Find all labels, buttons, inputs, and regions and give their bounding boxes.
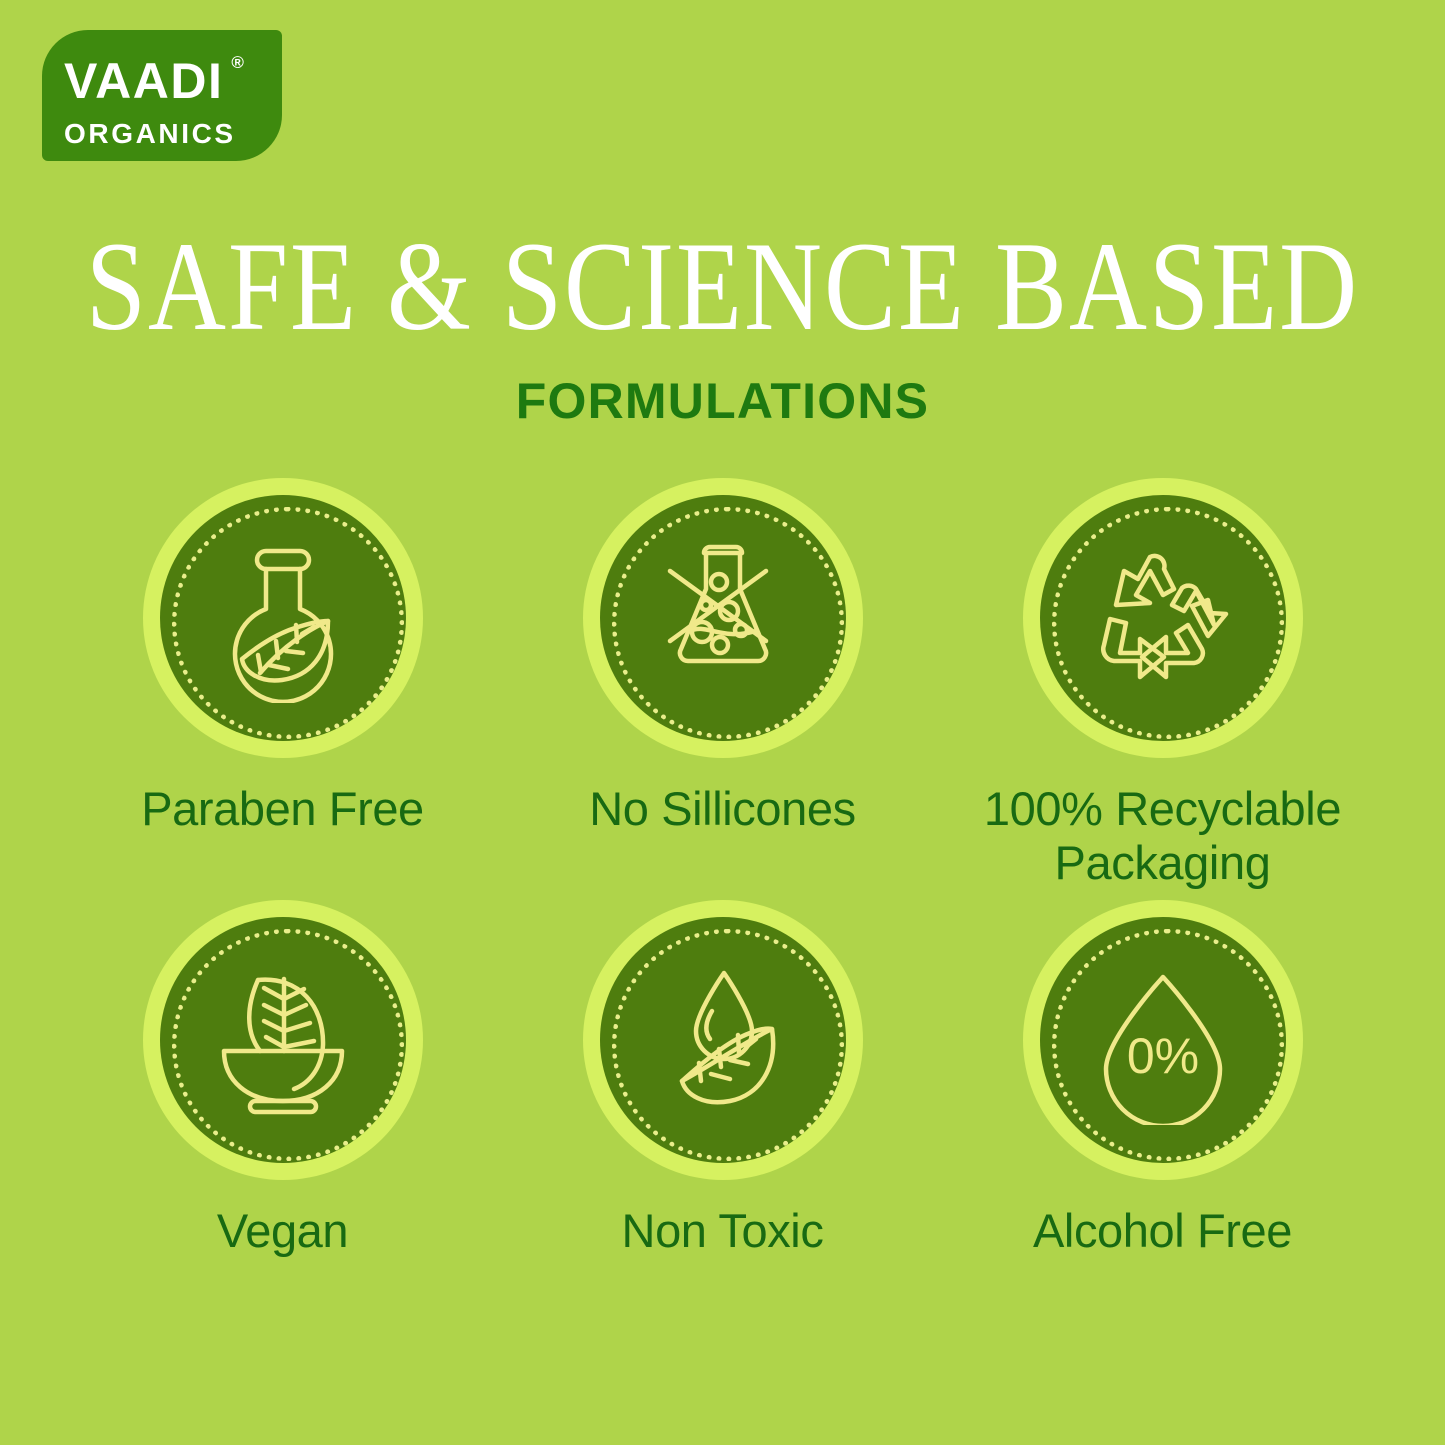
feature-item-no-sillicones: No Sillicones [503,478,943,836]
feature-grid: Paraben Free [0,478,1445,1258]
feature-label: Non Toxic [622,1204,824,1258]
feature-item-non-toxic: Non Toxic [503,900,943,1258]
badge-non-toxic [583,900,863,1180]
badge-inner [1040,495,1286,741]
droplet-zero-percent-icon: 0% [1078,955,1248,1125]
page-subtitle: FORMULATIONS [0,376,1445,426]
crossed-out-erlenmeyer-flask-icon [638,533,808,703]
feature-item-vegan: Vegan [63,900,503,1258]
droplet-on-leaf-icon [638,955,808,1125]
feature-row-1: Paraben Free [0,478,1445,890]
page-title: SAFE & SCIENCE BASED [0,224,1445,351]
brand-logo: VAADI ® ORGANICS [42,30,282,161]
badge-alcohol-free: 0% [1023,900,1303,1180]
feature-label: 100% Recyclable Packaging [953,782,1373,890]
flask-with-leaf-icon [198,533,368,703]
badge-inner [160,495,406,741]
feature-row-2: Vegan [0,900,1445,1258]
badge-recyclable-packaging [1023,478,1303,758]
recycle-icon [1078,533,1248,703]
badge-inner: 0% [1040,917,1286,1163]
badge-vegan [143,900,423,1180]
feature-label: No Sillicones [589,782,855,836]
badge-no-sillicones [583,478,863,758]
promo-poster: VAADI ® ORGANICS SAFE & SCIENCE BASED FO… [0,0,1445,1445]
brand-name: VAADI [64,53,223,109]
droplet-percent-text: 0% [1126,1028,1198,1084]
badge-inner [600,917,846,1163]
bowl-with-leaf-icon [198,955,368,1125]
badge-inner [160,917,406,1163]
feature-label: Paraben Free [141,782,424,836]
feature-item-paraben-free: Paraben Free [63,478,503,836]
feature-item-recyclable-packaging: 100% Recyclable Packaging [943,478,1383,890]
feature-label: Alcohol Free [1033,1204,1292,1258]
brand-tagline: ORGANICS [64,120,282,148]
feature-item-alcohol-free: 0% Alcohol Free [943,900,1383,1258]
badge-paraben-free [143,478,423,758]
badge-inner [600,495,846,741]
registered-trademark-icon: ® [231,54,245,71]
feature-label: Vegan [217,1204,348,1258]
brand-wordmark: VAADI ® [64,56,223,106]
